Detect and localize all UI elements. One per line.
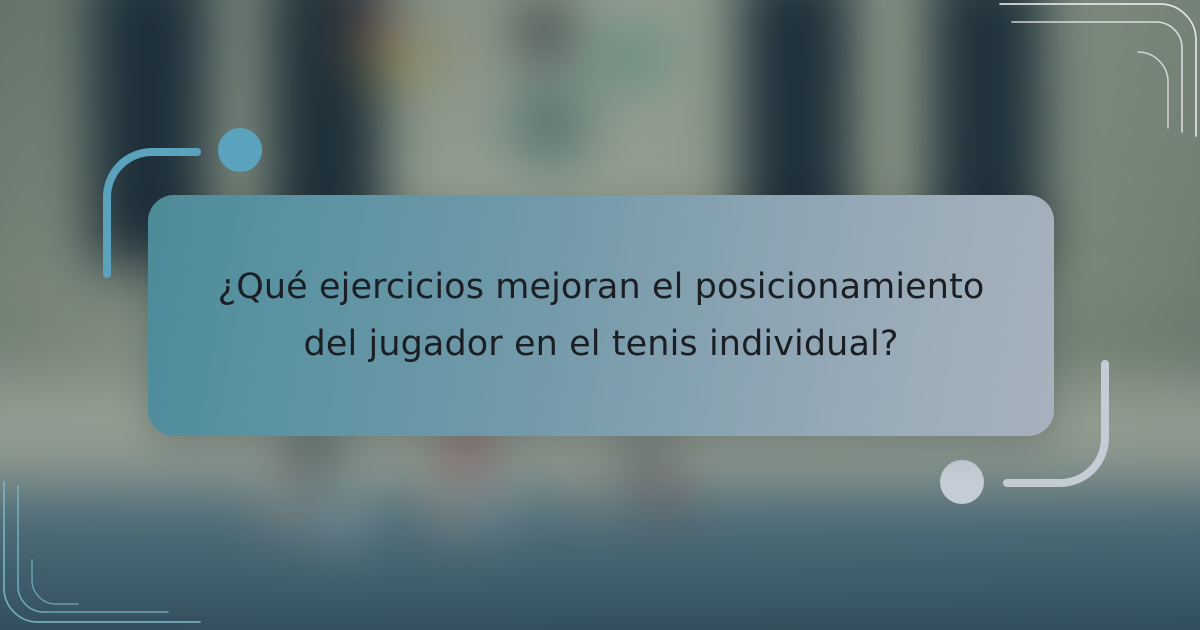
question-text: ¿Qué ejercicios mejoran el posicionamien…	[148, 259, 1054, 372]
dot-top-left-icon	[218, 128, 262, 172]
dot-bottom-right-icon	[940, 460, 984, 504]
question-card: ¿Qué ejercicios mejoran el posicionamien…	[148, 195, 1054, 436]
banner-canvas: ¿Qué ejercicios mejoran el posicionamien…	[0, 0, 1200, 630]
